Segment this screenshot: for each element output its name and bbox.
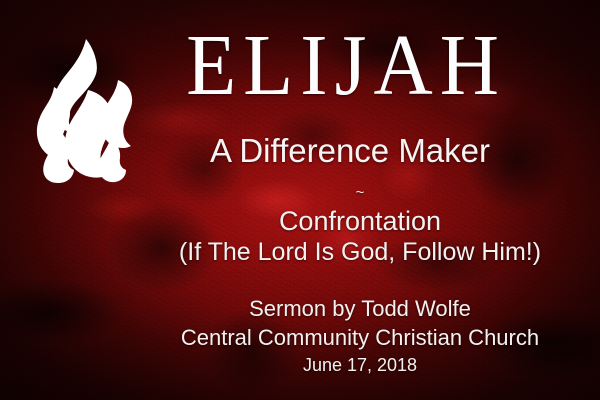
sermon-topic: Confrontation <box>110 205 600 237</box>
church-line: Central Community Christian Church <box>110 323 600 352</box>
separator-tilde: ~ <box>110 186 600 200</box>
credits-block: Sermon by Todd Wolfe Central Community C… <box>110 294 600 378</box>
date-line: June 17, 2018 <box>110 352 600 378</box>
sermon-title-slide: ELIJAH A Difference Maker ~ Confrontatio… <box>0 0 600 400</box>
sermon-details: ~ Confrontation (If The Lord Is God, Fol… <box>110 186 600 378</box>
speaker-line: Sermon by Todd Wolfe <box>110 294 600 323</box>
page-title: ELIJAH <box>146 22 546 109</box>
sermon-topic-subtitle: (If The Lord Is God, Follow Him!) <box>110 237 600 268</box>
slide-subtitle: A Difference Maker <box>120 133 580 169</box>
